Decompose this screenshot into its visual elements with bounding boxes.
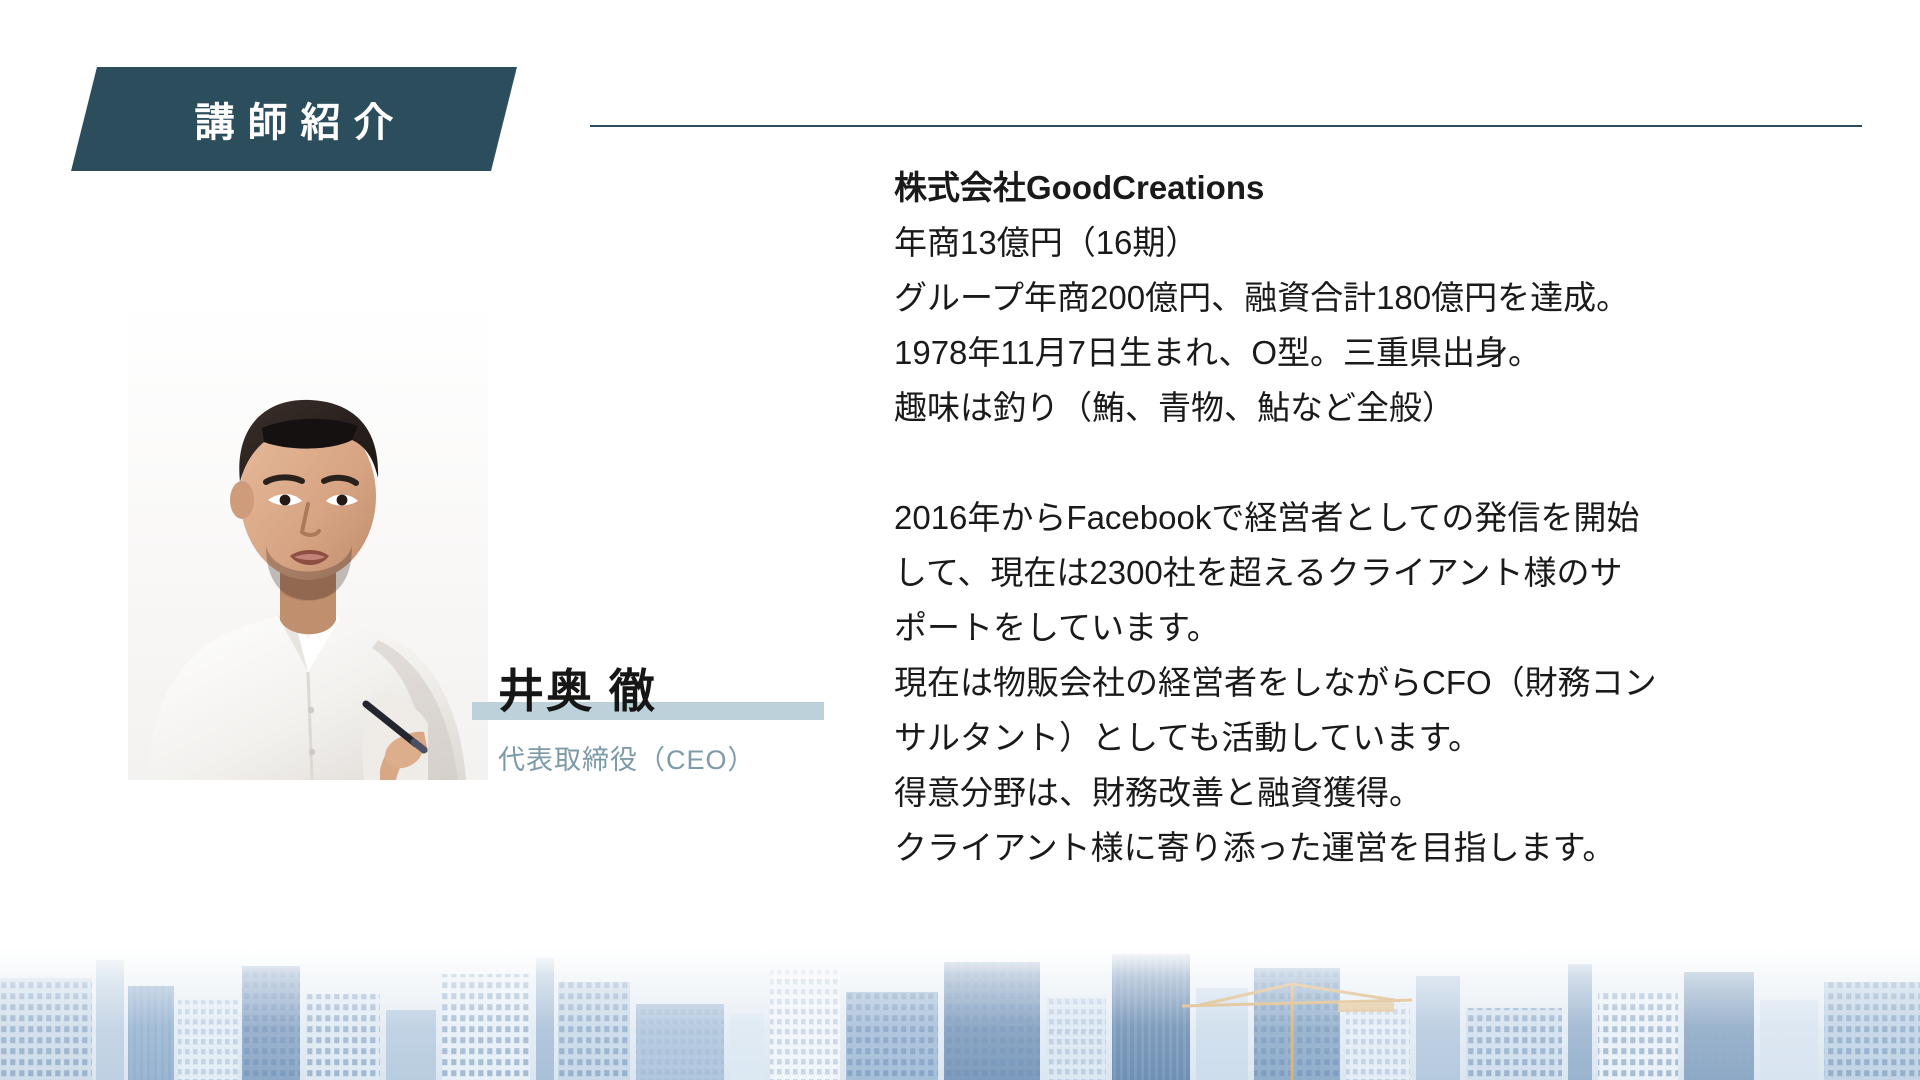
bio-company: 株式会社GoodCreations <box>894 160 1894 215</box>
bio-paragraph-line: 現在は物販会社の経営者をしながらCFO（財務コン <box>894 655 1894 710</box>
bio-paragraph-line: ポートをしています。 <box>894 600 1894 655</box>
portrait-block <box>128 300 488 780</box>
bio-paragraph-line: して、現在は2300社を超えるクライアント様のサ <box>894 545 1894 600</box>
header: 講師紹介 <box>0 0 1920 185</box>
bio-paragraph-line: 2016年からFacebookで経営者としての発信を開始 <box>894 490 1894 545</box>
profile-name: 井奥 徹 <box>498 655 657 721</box>
bio-paragraph-line: クライアント様に寄り添った運営を目指します。 <box>894 820 1894 875</box>
bio-block: 株式会社GoodCreations 年商13億円（16期） グループ年商200億… <box>894 160 1894 875</box>
profile-role: 代表取締役（CEO） <box>498 738 756 777</box>
bio-paragraph-line: サルタント）としても活動しています。 <box>894 710 1894 765</box>
bio-fact: 趣味は釣り（鮪、青物、鮎など全般） <box>894 380 1894 435</box>
bio-spacer <box>894 435 1894 490</box>
portrait-photo <box>128 300 488 780</box>
bio-fact: グループ年商200億円、融資合計180億円を達成。 <box>894 270 1894 325</box>
header-divider-rule <box>590 125 1862 127</box>
cityscape-band <box>0 948 1920 1080</box>
bio-fact: 1978年11月7日生まれ、O型。三重県出身。 <box>894 325 1894 380</box>
section-title: 講師紹介 <box>84 67 504 171</box>
bio-paragraph-line: 得意分野は、財務改善と融資獲得。 <box>894 765 1894 820</box>
bio-fact: 年商13億円（16期） <box>894 215 1894 270</box>
